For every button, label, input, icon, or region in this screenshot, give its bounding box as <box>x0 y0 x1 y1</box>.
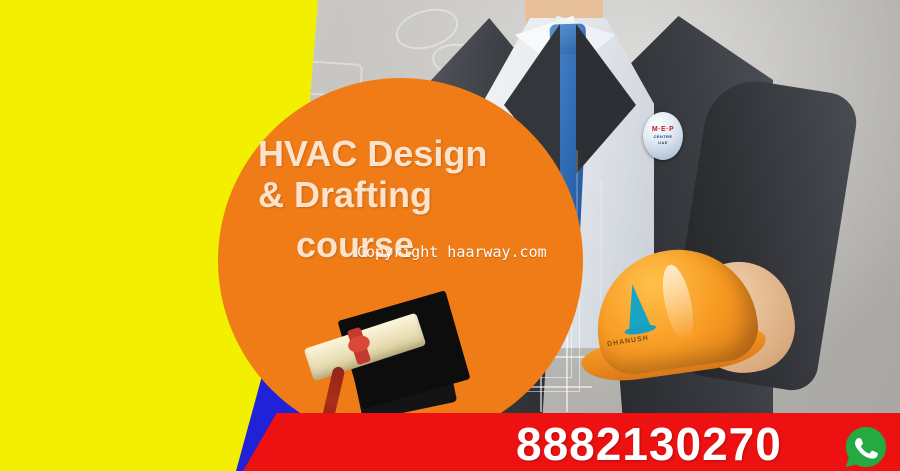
whatsapp-icon[interactable] <box>843 424 889 470</box>
copyright-watermark: Copyright haarway.com <box>357 243 547 261</box>
yellow-footer-mask <box>0 413 190 471</box>
phone-number[interactable]: 8882130270 <box>516 417 782 471</box>
mep-badge: M·E·P CENTRE UAE <box>643 112 683 160</box>
advertisement-banner: M·E·P CENTRE UAE DHANUSH Approved Traini… <box>0 0 900 471</box>
badge-top-text: M·E·P <box>652 126 674 134</box>
hard-hat-icon: DHANUSH <box>595 242 765 382</box>
badge-bottom-text: UAE <box>658 140 668 146</box>
course-title-line-2: & Drafting <box>258 177 558 214</box>
course-title-line-1: HVAC Design <box>258 136 558 173</box>
